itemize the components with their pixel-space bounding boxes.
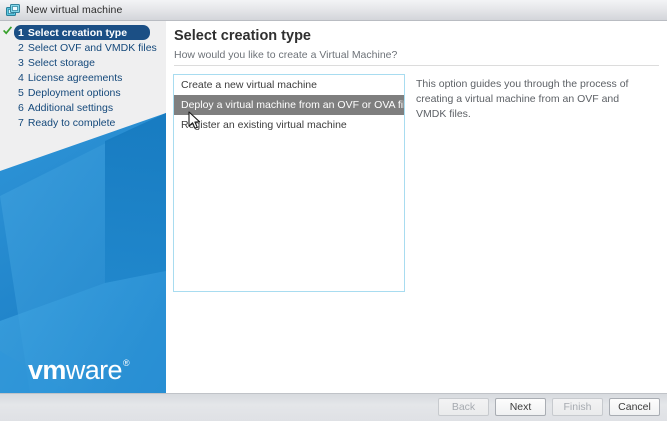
page-subtitle: How would you like to create a Virtual M… (174, 49, 397, 61)
wizard-step-list: 1 Select creation type 2 Select OVF and … (0, 21, 166, 130)
option-register-existing-vm[interactable]: Register an existing virtual machine (174, 115, 404, 135)
option-description: This option guides you through the proce… (416, 77, 648, 122)
sidebar-step-4[interactable]: 4 License agreements (0, 70, 166, 85)
step-number: 4 (18, 72, 24, 84)
step-label: Deployment options (28, 87, 121, 99)
sidebar-step-1[interactable]: 1 Select creation type (0, 25, 166, 40)
step-label: Ready to complete (28, 117, 116, 129)
wizard-footer: Back Next Finish Cancel (0, 393, 667, 421)
back-button[interactable]: Back (438, 398, 489, 416)
virtual-machine-icon (6, 4, 20, 17)
next-button[interactable]: Next (495, 398, 546, 416)
step-label: Select creation type (28, 27, 127, 39)
sidebar-step-3[interactable]: 3 Select storage (0, 55, 166, 70)
wizard-sidebar: 1 Select creation type 2 Select OVF and … (0, 21, 166, 393)
option-create-new-vm[interactable]: Create a new virtual machine (174, 75, 404, 95)
step-number: 3 (18, 57, 24, 69)
step-number: 5 (18, 87, 24, 99)
step-label: Additional settings (28, 102, 113, 114)
sidebar-step-2[interactable]: 2 Select OVF and VMDK files (0, 40, 166, 55)
step-complete-check-icon (3, 26, 12, 35)
vmware-logo-registered: ® (123, 358, 129, 368)
option-deploy-from-ovf[interactable]: Deploy a virtual machine from an OVF or … (174, 95, 404, 115)
finish-button[interactable]: Finish (552, 398, 603, 416)
window-title: New virtual machine (26, 4, 122, 16)
step-label: Select OVF and VMDK files (28, 42, 157, 54)
sidebar-step-5[interactable]: 5 Deployment options (0, 85, 166, 100)
vmware-logo: vmware® (28, 355, 128, 386)
new-virtual-machine-wizard: New virtual machine (0, 0, 667, 421)
vmware-logo-light: ware (66, 355, 122, 385)
vmware-logo-bold: vm (28, 355, 66, 385)
step-number: 7 (18, 117, 24, 129)
creation-type-listbox[interactable]: Create a new virtual machine Deploy a vi… (173, 74, 405, 292)
window-titlebar: New virtual machine (0, 0, 667, 21)
step-number: 2 (18, 42, 24, 54)
step-label: Select storage (28, 57, 95, 69)
cancel-button[interactable]: Cancel (609, 398, 660, 416)
header-divider (174, 65, 659, 66)
page-title: Select creation type (174, 28, 311, 44)
sidebar-step-7[interactable]: 7 Ready to complete (0, 115, 166, 130)
wizard-content: Select creation type How would you like … (166, 21, 667, 393)
sidebar-step-6[interactable]: 6 Additional settings (0, 100, 166, 115)
step-number: 1 (18, 27, 24, 39)
step-label: License agreements (28, 72, 123, 84)
step-number: 6 (18, 102, 24, 114)
